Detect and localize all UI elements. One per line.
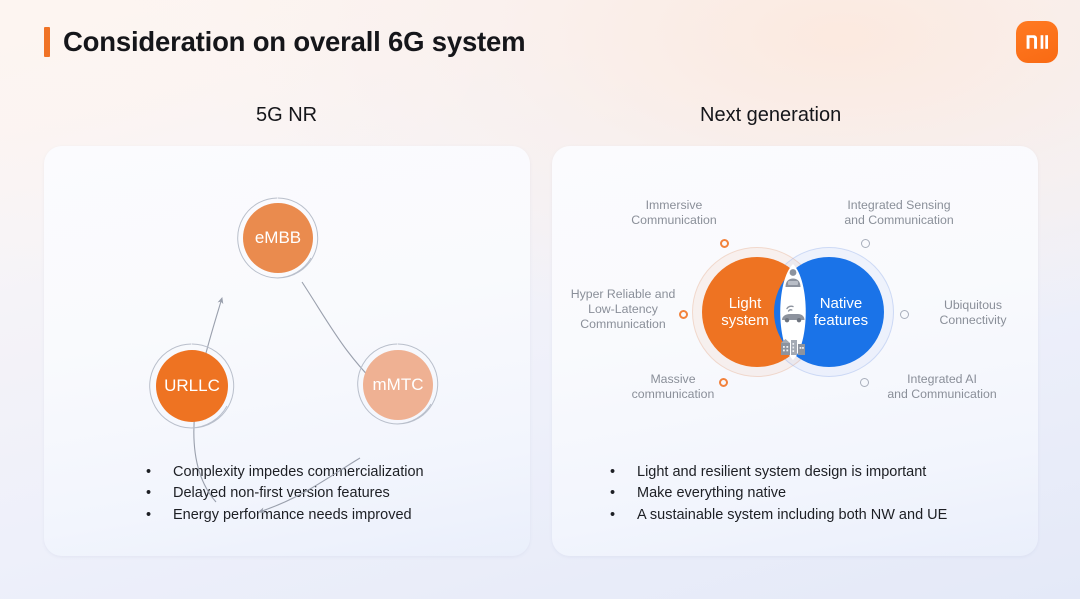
usage-dot-hyper-reliable xyxy=(679,310,688,319)
usage-label-line: Ubiquitous xyxy=(918,298,1028,313)
usage-label-line: Hyper Reliable and xyxy=(556,287,690,302)
vehicle-signal-icon xyxy=(780,303,806,323)
venn-left-line2: system xyxy=(721,312,769,329)
usage-label-line: Massive xyxy=(614,372,732,387)
title-accent-bar xyxy=(44,27,50,57)
usage-label-massive: Massive communication xyxy=(614,372,732,402)
person-icon xyxy=(782,268,804,288)
bullet-marker: • xyxy=(610,506,637,524)
usage-label-line: and Communication xyxy=(876,387,1008,402)
mi-wordmark-icon xyxy=(1025,34,1049,51)
usage-label-integrated-ai: Integrated AI and Communication xyxy=(876,372,1008,402)
bullet-marker: • xyxy=(610,463,637,481)
usage-label-hyper-reliable: Hyper Reliable and Low-Latency Communica… xyxy=(556,287,690,332)
usage-label-integrated-sensing: Integrated Sensing and Communication xyxy=(828,198,970,228)
usage-label-line: Low-Latency xyxy=(556,302,690,317)
heading-5g-nr: 5G NR xyxy=(256,104,317,127)
node-embb: eMBB xyxy=(243,203,313,273)
usage-dot-integrated-ai xyxy=(860,378,869,387)
node-urllc: URLLC xyxy=(156,350,228,422)
xiaomi-logo xyxy=(1016,21,1058,63)
venn-overlap-icons xyxy=(774,268,812,356)
usage-label-ubiquitous: Ubiquitous Connectivity xyxy=(918,298,1028,328)
list-item-text: A sustainable system including both NW a… xyxy=(637,506,947,524)
usage-dot-ubiquitous xyxy=(900,310,909,319)
usage-label-line: Immersive xyxy=(614,198,734,213)
list-item: • Light and resilient system design is i… xyxy=(610,463,947,481)
venn-left-line1: Light xyxy=(721,295,769,312)
usage-dot-integrated-sensing xyxy=(861,239,870,248)
usage-label-line: and Communication xyxy=(828,213,970,228)
title-text: Consideration on overall 6G system xyxy=(63,26,525,58)
bullet-marker: • xyxy=(610,484,637,502)
usage-label-line: communication xyxy=(614,387,732,402)
usage-label-line: Communication xyxy=(614,213,734,228)
bullet-list-next-gen: • Light and resilient system design is i… xyxy=(610,463,947,527)
usage-dot-immersive xyxy=(720,239,729,248)
node-mmtc: mMTC xyxy=(363,350,433,420)
usage-label-line: Connectivity xyxy=(918,313,1028,328)
list-item: • Make everything native xyxy=(610,484,947,502)
heading-next-generation: Next generation xyxy=(700,104,841,127)
venn-right-line1: Native xyxy=(814,295,868,312)
buildings-icon xyxy=(780,337,806,356)
usage-label-line: Communication xyxy=(556,317,690,332)
page-title: Consideration on overall 6G system xyxy=(44,26,525,58)
usage-dot-massive xyxy=(719,378,728,387)
list-item-text: Light and resilient system design is imp… xyxy=(637,463,926,481)
venn-right-line2: features xyxy=(814,312,868,329)
usage-label-line: Integrated Sensing xyxy=(828,198,970,213)
list-item: • A sustainable system including both NW… xyxy=(610,506,947,524)
usage-label-line: Integrated AI xyxy=(876,372,1008,387)
usage-label-immersive: Immersive Communication xyxy=(614,198,734,228)
list-item-text: Make everything native xyxy=(637,484,786,502)
slide-root: Consideration on overall 6G system 5G NR… xyxy=(0,0,1080,599)
